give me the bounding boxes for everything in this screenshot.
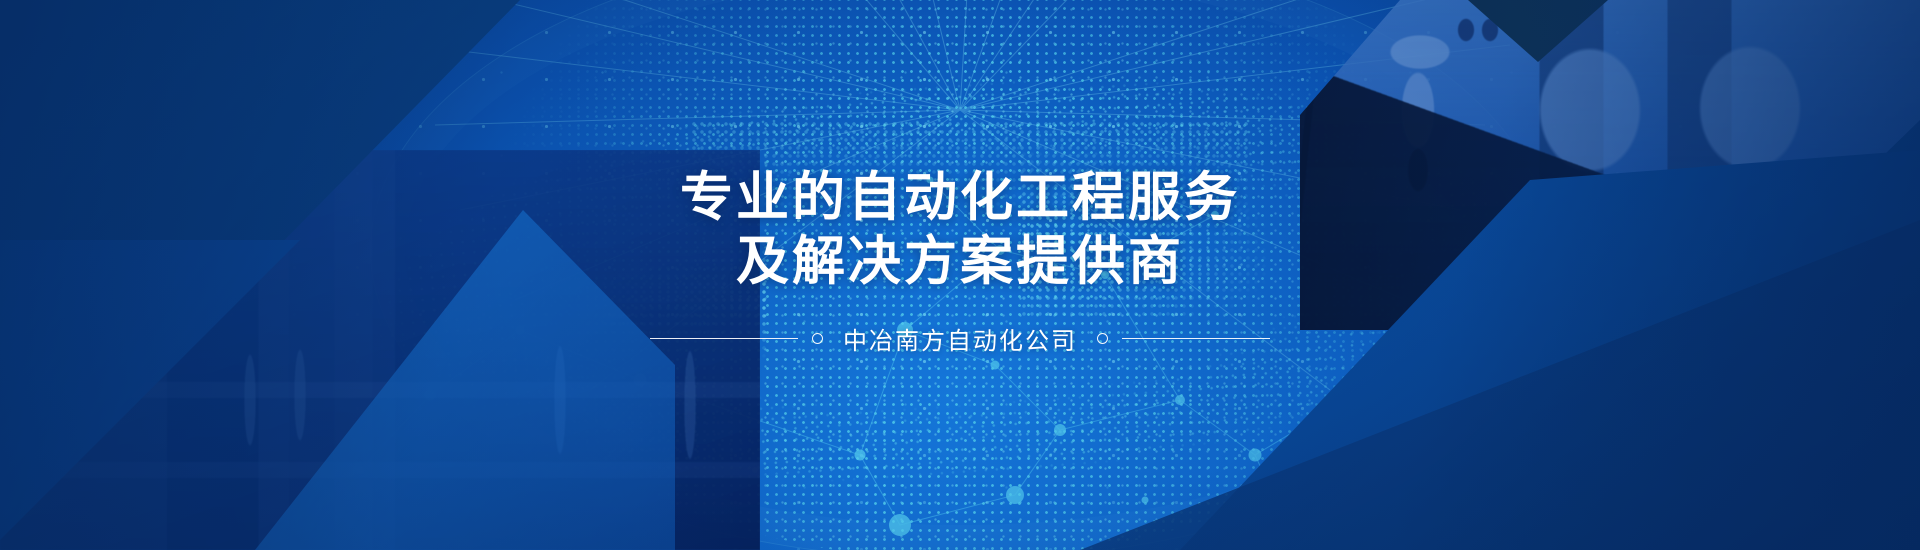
left-rule-line — [650, 338, 798, 339]
right-circle-marker-icon — [1097, 333, 1108, 344]
subtitle-row: 中冶南方自动化公司 — [650, 321, 1270, 356]
headline-line-2: 及解决方案提供商 — [680, 230, 1240, 294]
headline-line-1: 专业的自动化工程服务 — [680, 166, 1240, 230]
hero-banner: 专业的自动化工程服务 及解决方案提供商 中冶南方自动化公司 — [0, 0, 1920, 550]
left-circle-marker-icon — [812, 333, 823, 344]
right-rule-line — [1122, 338, 1270, 339]
banner-content: 专业的自动化工程服务 及解决方案提供商 中冶南方自动化公司 — [0, 0, 1920, 550]
headline: 专业的自动化工程服务 及解决方案提供商 — [680, 166, 1240, 293]
company-name: 中冶南方自动化公司 — [837, 321, 1083, 356]
